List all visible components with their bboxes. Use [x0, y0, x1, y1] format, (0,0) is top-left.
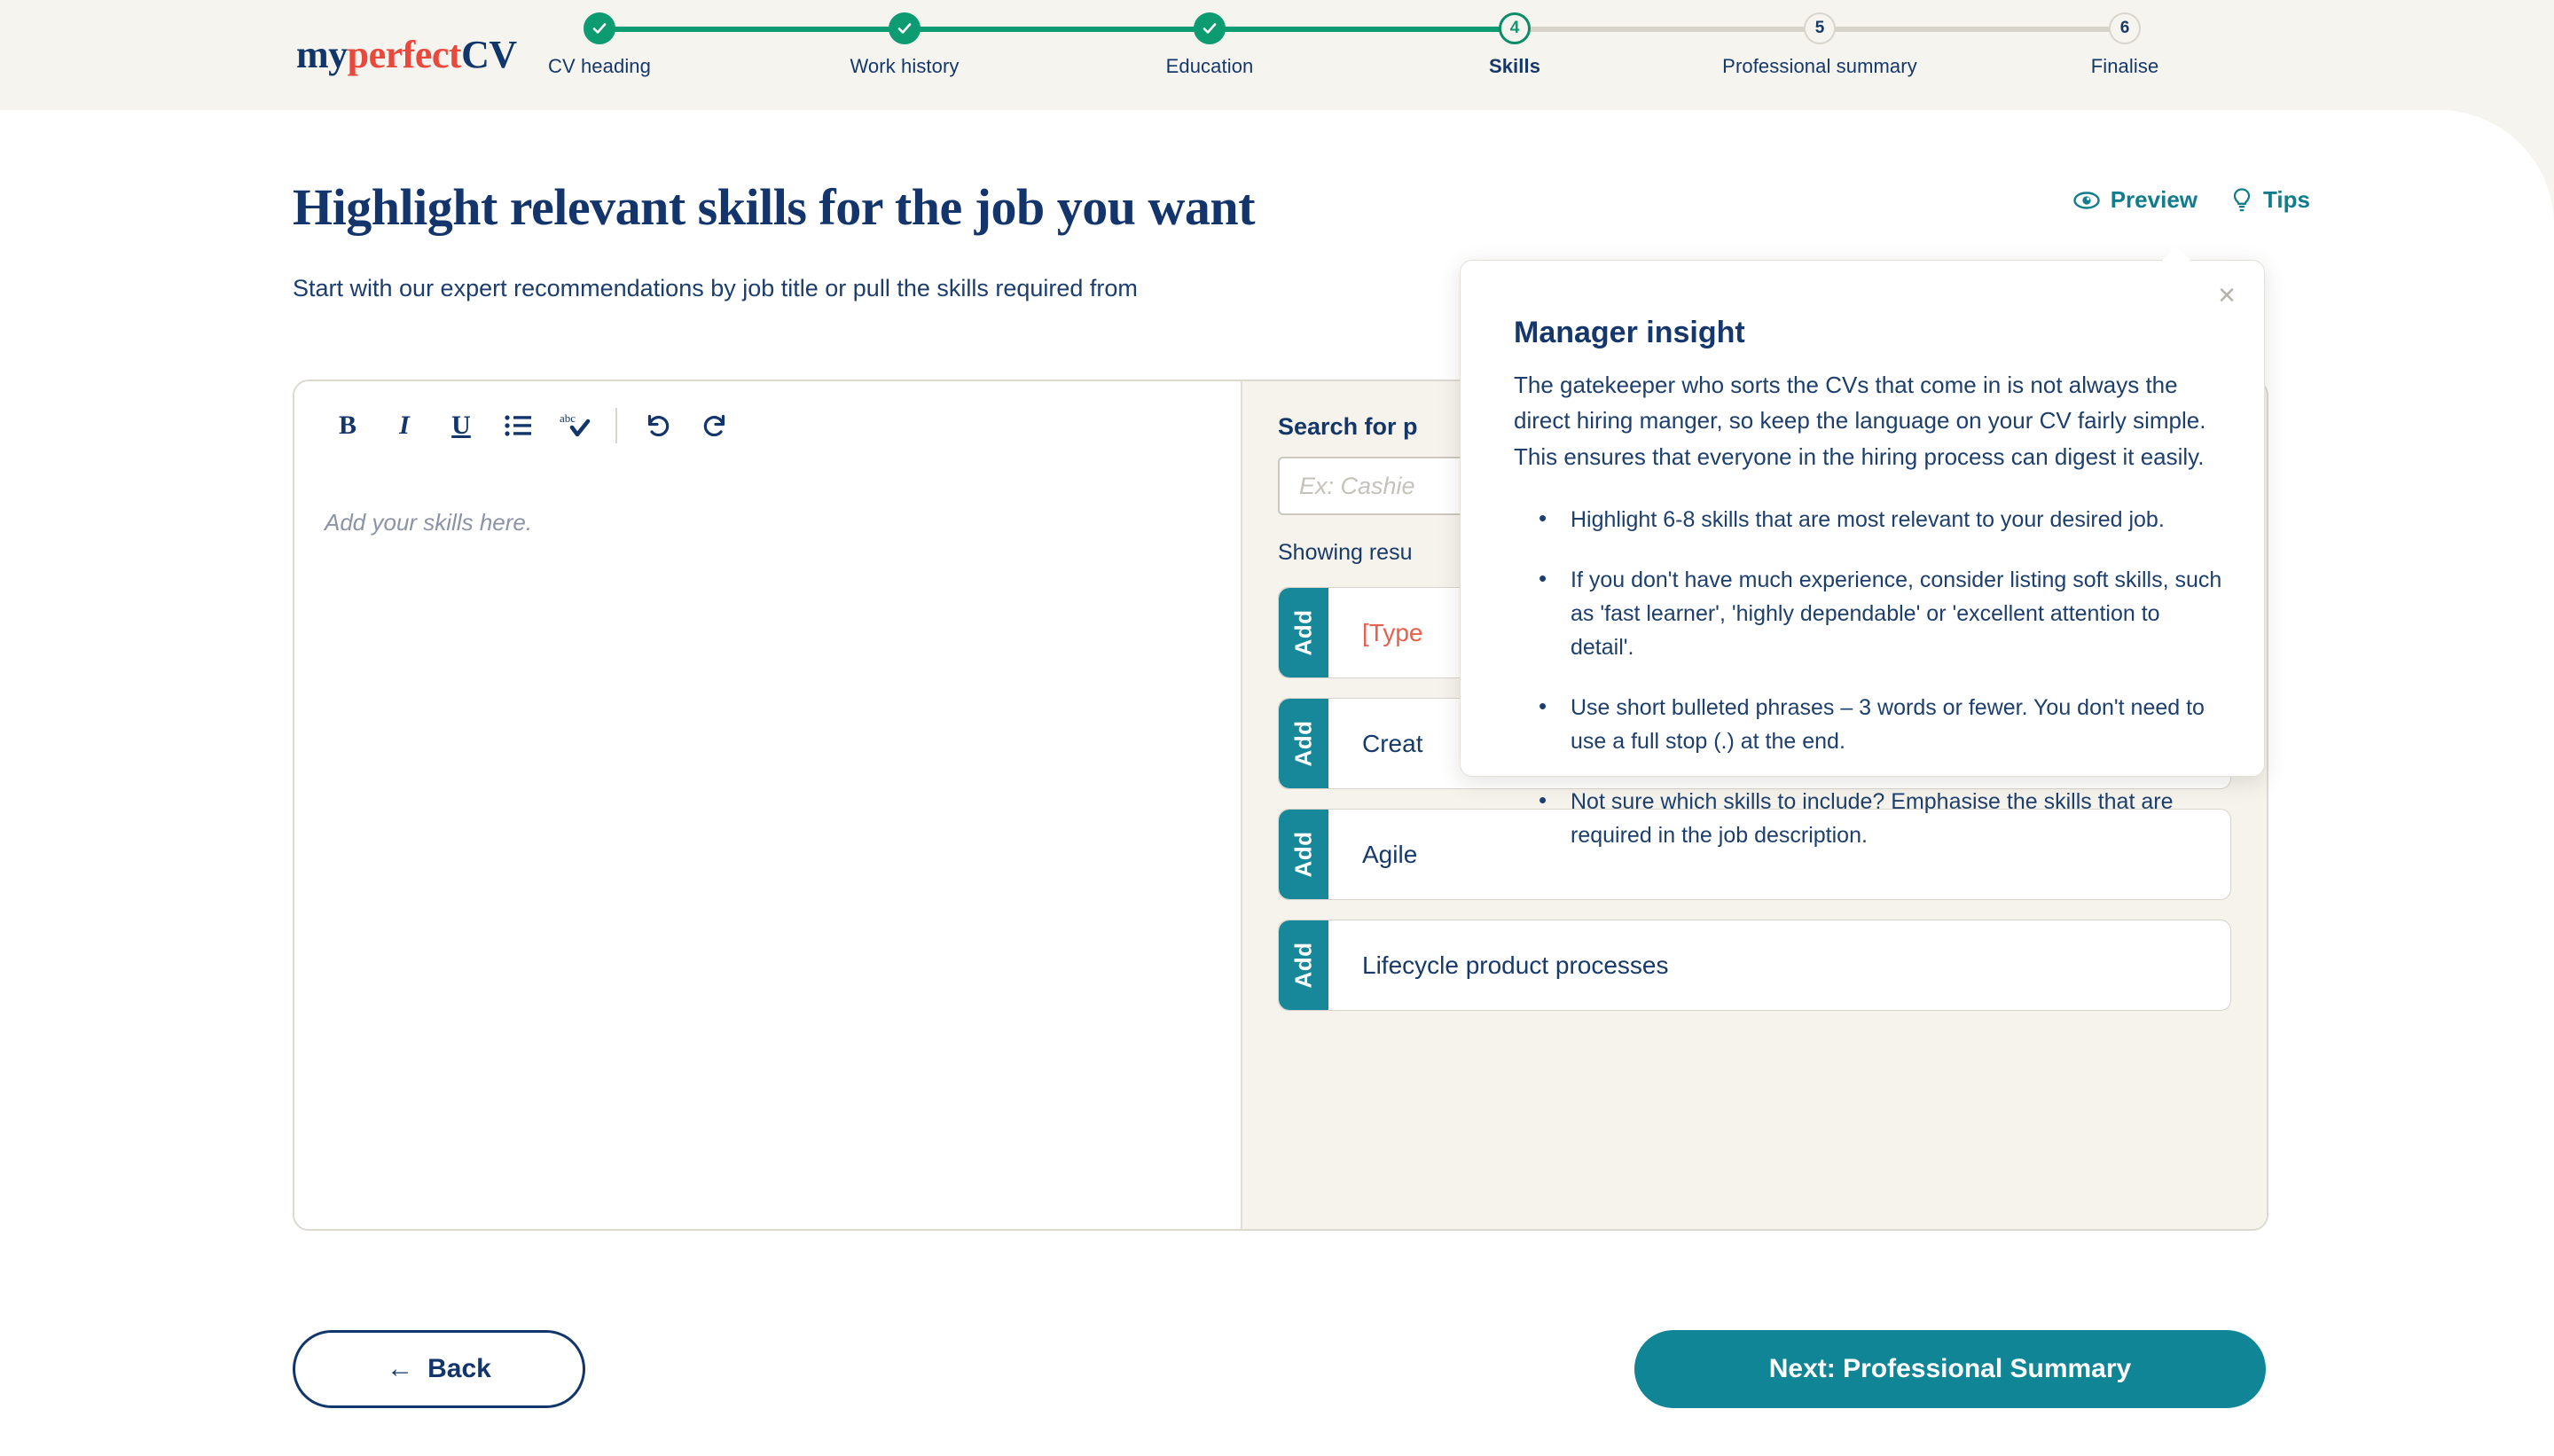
skill-result-text: Creat — [1328, 699, 1422, 788]
stepper-connector — [1515, 27, 1820, 32]
popover-bullet-item: Highlight 6-8 skills that are most relev… — [1514, 503, 2223, 536]
step-number: 5 — [1804, 12, 1836, 44]
add-skill-button[interactable]: Add — [1279, 810, 1328, 899]
page-title: Highlight relevant skills for the job yo… — [293, 177, 1255, 237]
arrow-left-icon: ← — [387, 1354, 413, 1384]
stepper-step-finalise[interactable]: 6Finalise — [1992, 12, 2258, 78]
add-button-label: Add — [1289, 942, 1317, 988]
page-subtitle: Start with our expert recommendations by… — [293, 275, 1138, 302]
stepper-label: Skills — [1489, 55, 1540, 78]
popover-paragraph: The gatekeeper who sorts the CVs that co… — [1514, 367, 2223, 474]
svg-text:abc: abc — [560, 411, 576, 425]
check-icon — [889, 12, 921, 44]
add-button-label: Add — [1289, 609, 1317, 655]
italic-icon[interactable]: I — [376, 401, 433, 450]
skill-result-text: Lifecycle product processes — [1328, 920, 1669, 1010]
stepper-label: Finalise — [2091, 55, 2159, 78]
stepper-step-professional-summary[interactable]: 5Professional summary — [1687, 12, 1953, 78]
skill-result-row: AddLifecycle product processes — [1278, 920, 2231, 1011]
stepper-label: Work history — [850, 55, 959, 78]
spellcheck-icon[interactable]: abc — [546, 401, 603, 450]
editor-toolbar: B I U abc — [294, 381, 1241, 450]
underline-icon[interactable]: U — [433, 401, 490, 450]
eye-icon — [2073, 191, 2100, 210]
manager-insight-popover: × Manager insight The gatekeeper who sor… — [1460, 260, 2265, 777]
preview-button[interactable]: Preview — [2073, 186, 2198, 214]
stepper-step-cv-heading[interactable]: CV heading — [466, 12, 733, 78]
bold-icon[interactable]: B — [319, 401, 376, 450]
add-skill-button[interactable]: Add — [1279, 699, 1328, 788]
add-skill-button[interactable]: Add — [1279, 588, 1328, 677]
stepper-step-work-history[interactable]: Work history — [772, 12, 1038, 78]
popover-bullet-item: If you don't have much experience, consi… — [1514, 563, 2223, 664]
app-page: myperfectCV CV headingWork historyEducat… — [0, 0, 2554, 1456]
skills-editor-pane: B I U abc Add your skills here. — [294, 381, 1242, 1229]
add-button-label: Add — [1289, 720, 1317, 766]
step-number: 6 — [2109, 12, 2141, 44]
tips-button[interactable]: Tips — [2231, 186, 2310, 214]
editor-placeholder: Add your skills here. — [325, 509, 1210, 536]
undo-icon[interactable] — [630, 401, 686, 450]
logo-perfect: perfect — [348, 33, 461, 76]
stepper-label: Education — [1166, 55, 1254, 78]
stepper-label: CV heading — [548, 55, 651, 78]
stepper-step-skills[interactable]: 4Skills — [1382, 12, 1648, 78]
stepper-step-education[interactable]: Education — [1077, 12, 1343, 78]
popover-bullet-item: Not sure which skills to include? Emphas… — [1514, 785, 2223, 852]
app-header: myperfectCV CV headingWork historyEducat… — [0, 0, 2554, 110]
back-button[interactable]: ← Back — [293, 1330, 585, 1408]
popover-body: The gatekeeper who sorts the CVs that co… — [1514, 367, 2223, 879]
popover-title: Manager insight — [1514, 316, 1745, 350]
skills-textarea[interactable]: Add your skills here. — [294, 486, 1241, 1229]
next-label: Next: Professional Summary — [1769, 1354, 2131, 1384]
stepper-connector — [905, 27, 1210, 32]
check-icon — [584, 12, 615, 44]
popover-bullet-item: Use short bulleted phrases – 3 words or … — [1514, 691, 2223, 758]
popover-bullet-list: Highlight 6-8 skills that are most relev… — [1514, 503, 2223, 852]
top-actions: Preview Tips — [2073, 186, 2310, 214]
tips-label: Tips — [2263, 186, 2310, 214]
progress-stepper: CV headingWork historyEducation4Skills5P… — [599, 12, 2125, 101]
toolbar-divider — [615, 408, 617, 443]
stepper-connector — [1820, 27, 2125, 32]
bullet-list-icon[interactable] — [490, 401, 546, 450]
close-icon[interactable]: × — [2218, 280, 2236, 310]
preview-label: Preview — [2111, 186, 2198, 214]
add-button-label: Add — [1289, 831, 1317, 877]
stepper-label: Professional summary — [1722, 55, 1917, 78]
add-skill-button[interactable]: Add — [1279, 920, 1328, 1010]
stepper-connector — [1210, 27, 1515, 32]
step-number: 4 — [1499, 12, 1531, 44]
skill-result-text: [Type — [1328, 588, 1422, 677]
logo-my: my — [296, 33, 348, 76]
redo-icon[interactable] — [686, 401, 743, 450]
lightbulb-icon — [2231, 187, 2252, 214]
check-icon — [1194, 12, 1226, 44]
stepper-connector — [599, 27, 905, 32]
back-label: Back — [427, 1354, 491, 1384]
next-button[interactable]: Next: Professional Summary — [1634, 1330, 2266, 1408]
skill-result-text: Agile — [1328, 810, 1417, 899]
